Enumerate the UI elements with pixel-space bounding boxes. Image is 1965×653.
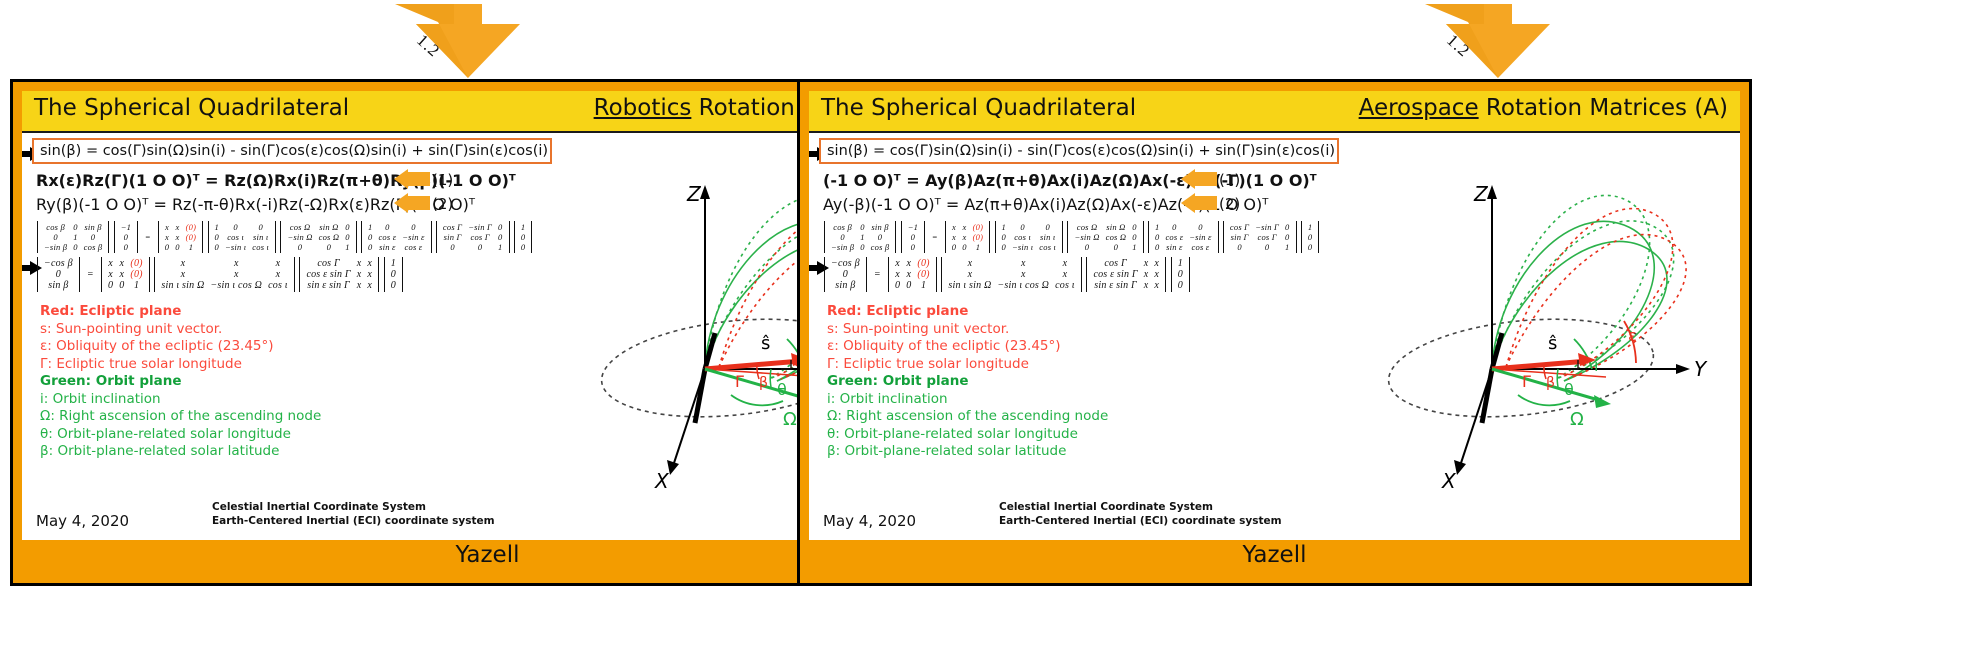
angle-label-omega: Ω: [783, 409, 797, 430]
legend-red-item: ε: Obliquity of the ecliptic (23.45°): [40, 338, 321, 356]
slide-header: The Spherical Quadrilateral Aerospace Ro…: [809, 91, 1740, 133]
axis-label-x: X: [1441, 469, 1457, 493]
matrix-n1: −cos β0sin β: [37, 257, 80, 292]
slide-date: May 4, 2020: [36, 512, 129, 530]
matrix-m2: −100: [114, 221, 138, 253]
equals-sign: =: [928, 232, 941, 242]
matrix-n3: xx(0)xx(0)001: [101, 257, 150, 292]
orange-pointer-icon: [1181, 193, 1217, 213]
matrix-m1: cos β0sin β010−sin β0cos β: [824, 221, 896, 253]
legend-green-item: i: Orbit inclination: [827, 391, 1108, 409]
footer-label: Yazell: [809, 542, 1740, 568]
equals-sign: =: [83, 269, 97, 280]
matrix-equation-row-2: −cos β0sin β = xx(0)xx(0)001 xxxxxxsin ι…: [36, 257, 404, 292]
matrix-n4: xxxxxxsin ι sin Ω−sin ι cos Ωcos ι: [154, 257, 294, 292]
arrow-annotation-left: 1.2: [390, 2, 550, 80]
angle-label-omega: Ω: [1570, 409, 1584, 430]
matrix-m3: xx(0)xx(0)001: [945, 221, 990, 253]
axis-label-y: Y: [1694, 357, 1708, 381]
orange-arrow-icon: [1420, 2, 1580, 80]
equals-sign: =: [141, 232, 154, 242]
angle-label-gamma: Γ: [735, 372, 744, 391]
legend-green-item: β: Orbit-plane-related solar latitude: [827, 443, 1108, 461]
legend-red-heading: Red: Ecliptic plane: [827, 303, 1108, 321]
matrix-m7: cos Γ−sin Γ0sin Γcos Γ0001: [1223, 221, 1297, 253]
boxed-equation-text: sin(β) = cos(Γ)sin(Ω)sin(i) - sin(Γ)cos(…: [40, 143, 544, 159]
slide-body: sin(β) = cos(Γ)sin(Ω)sin(i) - sin(Γ)cos(…: [809, 133, 1740, 540]
matrix-n8: 100: [384, 257, 403, 292]
legend-green-heading: Green: Orbit plane: [40, 373, 321, 391]
legend-green-item: Ω: Right ascension of the ascending node: [40, 408, 321, 426]
sun-vector-label: ŝ: [1548, 333, 1557, 354]
slide-subtitle-rest: Rotation Matrices (A): [1479, 95, 1728, 121]
legend-green-item: Ω: Right ascension of the ascending node: [827, 408, 1108, 426]
legend-green-item: θ: Orbit-plane-related solar longitude: [827, 426, 1108, 444]
matrix-equation-row-2: −cos β0sin β = xx(0)xx(0)001 xxxxxxsin ι…: [823, 257, 1191, 292]
x-axis-arrowhead: [667, 460, 679, 475]
diagram-caption: Celestial Inertial Coordinate System Ear…: [212, 500, 495, 528]
orange-pointer-icon: [394, 169, 430, 189]
slide-subtitle-emphasis: Robotics: [594, 95, 692, 121]
matrix-n4: xxxxxxsin ι sin Ω−sin ι cos Ωcos ι: [941, 257, 1081, 292]
orange-pointer-icon: [1181, 169, 1217, 189]
y-axis-arrowhead: [1676, 364, 1690, 374]
legend-green-item: β: Orbit-plane-related solar latitude: [40, 443, 321, 461]
slide-inner-frame: The Spherical Quadrilateral Aerospace Ro…: [800, 82, 1749, 583]
legend: Red: Ecliptic plane s: Sun-pointing unit…: [40, 303, 321, 461]
matrix-n1: −cos β0sin β: [824, 257, 867, 292]
boxed-equation: sin(β) = cos(Γ)sin(Ω)sin(i) - sin(Γ)cos(…: [819, 138, 1339, 164]
angle-label-i: i: [1594, 356, 1598, 375]
legend-red-item: ε: Obliquity of the ecliptic (23.45°): [827, 338, 1108, 356]
slide-subtitle: Aerospace Rotation Matrices (A): [1359, 95, 1728, 121]
matrix-m4: 1000cos ιsin ι0−sin ιcos ι: [995, 221, 1064, 253]
equation-1-tag: (1): [1219, 171, 1240, 189]
sun-vector-label: ŝ: [761, 333, 770, 354]
boxed-equation: sin(β) = cos(Γ)sin(Ω)sin(i) - sin(Γ)cos(…: [32, 138, 552, 164]
slide-footer: Yazell: [809, 540, 1740, 574]
slide-subtitle-emphasis: Aerospace: [1359, 95, 1479, 121]
legend-red-item: Γ: Ecliptic true solar longitude: [827, 356, 1108, 374]
boxed-equation-text: sin(β) = cos(Γ)sin(Ω)sin(i) - sin(Γ)cos(…: [827, 143, 1331, 159]
caption-line: Earth-Centered Inertial (ECI) coordinate…: [999, 514, 1282, 528]
celestial-coordinate-diagram: Z Y X ŝ ε i Γ β θ Ω: [1306, 133, 1736, 540]
matrix-m5: cos Ωsin Ω0−sin Ωcos Ω0001: [1067, 221, 1143, 253]
matrix-m1: cos β0sin β010−sin β0cos β: [37, 221, 109, 253]
matrix-m5: cos Ωsin Ω0−sin Ωcos Ω0001: [280, 221, 356, 253]
diagram-caption: Celestial Inertial Coordinate System Ear…: [999, 500, 1282, 528]
axis-label-x: X: [654, 469, 670, 493]
slide-comparison-canvas: 1.2 1.2 The Spherical Quadrilateral Robo…: [0, 0, 1965, 653]
omega-arrowhead: [1594, 395, 1611, 408]
legend-green-item: i: Orbit inclination: [40, 391, 321, 409]
angle-label-beta: β: [759, 375, 768, 391]
matrix-n3: xx(0)xx(0)001: [888, 257, 937, 292]
matrix-m2: −100: [901, 221, 925, 253]
caption-line: Celestial Inertial Coordinate System: [999, 500, 1282, 514]
angle-label-beta: β: [1546, 375, 1555, 391]
angle-label-epsilon: ε: [1628, 326, 1637, 345]
matrix-equation-row-1: cos β0sin β010−sin β0cos β −100 = xx(0)x…: [36, 221, 533, 253]
z-axis-arrowhead: [1487, 185, 1497, 199]
x-axis-arrowhead: [1454, 460, 1466, 475]
legend-red-heading: Red: Ecliptic plane: [40, 303, 321, 321]
equals-sign: =: [870, 269, 884, 280]
legend: Red: Ecliptic plane s: Sun-pointing unit…: [827, 303, 1108, 461]
angle-label-theta: θ: [777, 380, 787, 399]
axis-label-z: Z: [1473, 182, 1489, 206]
matrix-equation-row-1: cos β0sin β010−sin β0cos β −100 = xx(0)x…: [823, 221, 1320, 253]
page-title: The Spherical Quadrilateral: [821, 95, 1136, 121]
orange-pointer-icon: [394, 193, 430, 213]
arrow-annotation-right: 1.2: [1420, 2, 1580, 80]
caption-line: Celestial Inertial Coordinate System: [212, 500, 495, 514]
matrix-m4: 1000cos ιsin ι0−sin ιcos ι: [208, 221, 277, 253]
angle-label-gamma: Γ: [1522, 372, 1531, 391]
slide-aerospace[interactable]: The Spherical Quadrilateral Aerospace Ro…: [797, 79, 1752, 586]
legend-green-item: θ: Orbit-plane-related solar longitude: [40, 426, 321, 444]
legend-red-item: s: Sun-pointing unit vector.: [827, 321, 1108, 339]
legend-red-item: s: Sun-pointing unit vector.: [40, 321, 321, 339]
axis-label-z: Z: [686, 182, 702, 206]
caption-line: Earth-Centered Inertial (ECI) coordinate…: [212, 514, 495, 528]
matrix-n5: cos Γxxcos ε sin Γxxsin ε sin Γxx: [299, 257, 379, 292]
matrix-n5: cos Γxxcos ε sin Γxxsin ε sin Γxx: [1086, 257, 1166, 292]
page-title: The Spherical Quadrilateral: [34, 95, 349, 121]
matrix-m6: 1000cos ε−sin ε0sin εcos ε: [361, 221, 432, 253]
legend-red-item: Γ: Ecliptic true solar longitude: [40, 356, 321, 374]
equation-1: (-1 O O)ᵀ = Ay(β)Az(π+θ)Ax(i)Az(Ω)Ax(-ε)…: [823, 171, 1317, 190]
orange-arrow-icon: [390, 2, 550, 80]
legend-green-heading: Green: Orbit plane: [827, 373, 1108, 391]
equation-2-tag: (2): [432, 195, 453, 213]
equation-1-tag: (1): [432, 171, 453, 189]
z-axis-arrowhead: [700, 185, 710, 199]
slide-date: May 4, 2020: [823, 512, 916, 530]
equation-2-tag: (2): [1219, 195, 1240, 213]
matrix-n8: 100: [1171, 257, 1190, 292]
matrix-m3: xx(0)xx(0)001: [158, 221, 203, 253]
matrix-m7: cos Γ−sin Γ0sin Γcos Γ0001: [436, 221, 510, 253]
matrix-m6: 1000cos ε−sin ε0sin εcos ε: [1148, 221, 1219, 253]
angle-label-theta: θ: [1564, 380, 1574, 399]
